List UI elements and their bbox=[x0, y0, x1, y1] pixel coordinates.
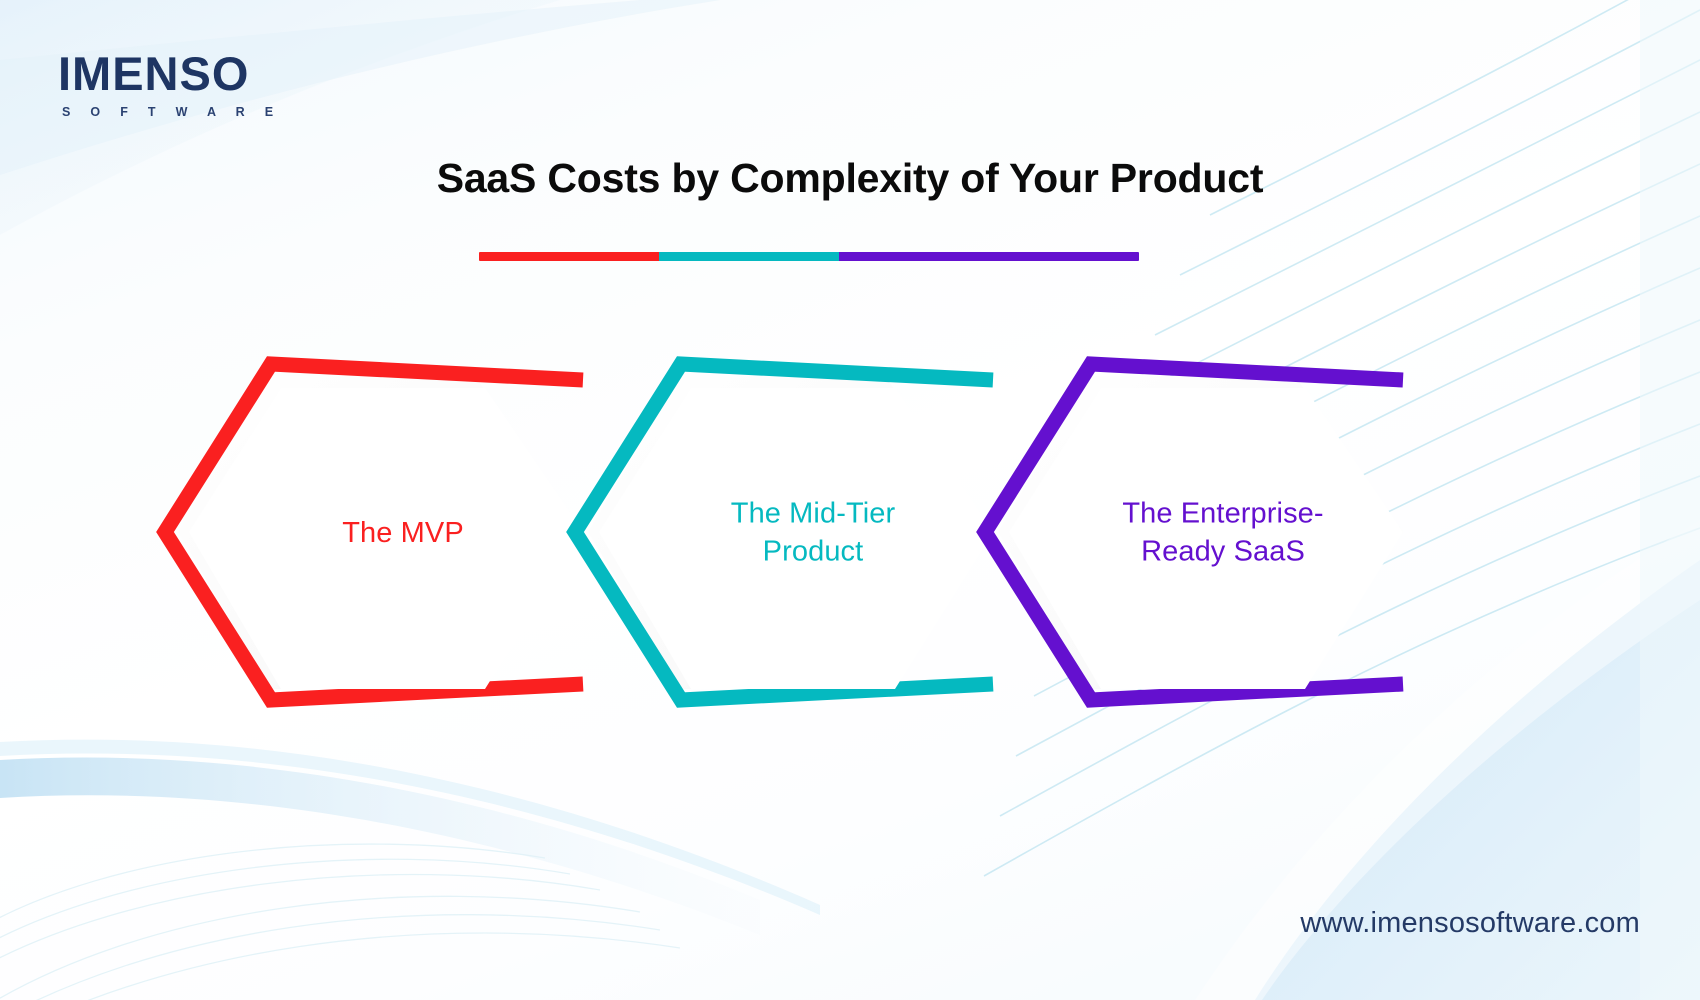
brand-logo: IMENSO S O F T W A R E bbox=[58, 50, 281, 119]
hexagon-label-mvp: The MVP bbox=[258, 513, 548, 551]
hexagon-label-enterprise: The Enterprise- Ready SaaS bbox=[1078, 494, 1368, 571]
hexagon-card-mid-tier[interactable]: The Mid-Tier Product bbox=[573, 340, 993, 725]
divider-segment-teal bbox=[659, 252, 839, 261]
divider-segment-red bbox=[479, 252, 659, 261]
infographic-canvas: IMENSO S O F T W A R E SaaS Costs by Com… bbox=[0, 0, 1700, 1000]
hexagon-card-mvp[interactable]: The MVP bbox=[163, 340, 583, 725]
logo-tagline: S O F T W A R E bbox=[62, 106, 281, 119]
bg-bottom-left-arcs bbox=[0, 844, 680, 1000]
title-divider bbox=[479, 252, 1139, 261]
page-title: SaaS Costs by Complexity of Your Product bbox=[0, 155, 1700, 202]
site-url[interactable]: www.imensosoftware.com bbox=[1300, 907, 1640, 940]
hexagon-label-mid-tier: The Mid-Tier Product bbox=[668, 494, 958, 571]
bg-right-edge-tint bbox=[1640, 0, 1700, 1000]
logo-wordmark: IMENSO bbox=[58, 50, 281, 97]
hexagon-card-enterprise[interactable]: The Enterprise- Ready SaaS bbox=[983, 340, 1403, 725]
divider-segment-purple bbox=[839, 252, 1139, 261]
bg-bottom-left-swoosh bbox=[0, 740, 820, 935]
